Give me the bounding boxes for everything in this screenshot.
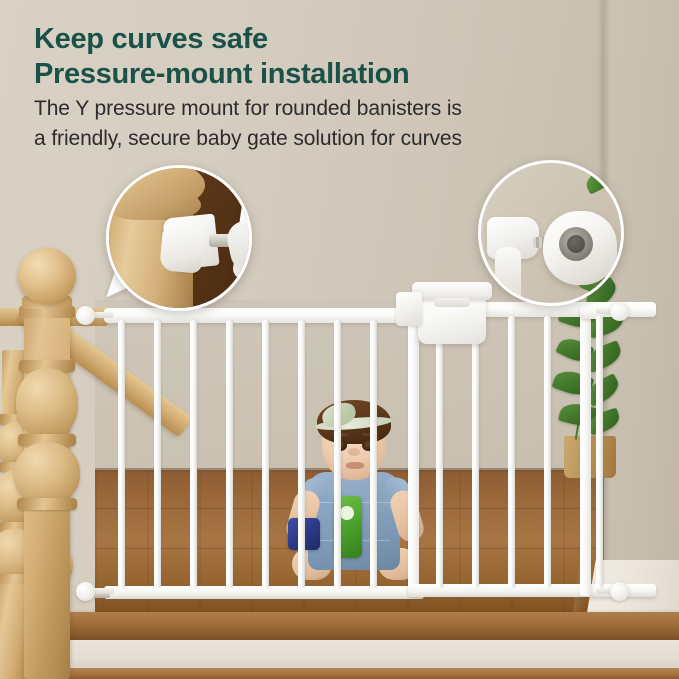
gate-door-latch-post[interactable] [580, 310, 591, 596]
newel-bulb [14, 442, 80, 504]
newel-bulb [16, 368, 78, 438]
gate-bar [298, 320, 305, 588]
gate-bar [596, 316, 603, 588]
gate-bar [226, 320, 233, 588]
gate-bar [334, 320, 341, 588]
subheadline: The Y pressure mount for rounded baniste… [34, 94, 634, 154]
gate-bar [190, 320, 197, 588]
baby-gate[interactable] [96, 296, 608, 618]
headline-line-1: Keep curves safe [34, 22, 634, 57]
gate-hinge-block [396, 292, 422, 326]
gate-bar [118, 320, 125, 588]
y-pressure-mount-arm [159, 228, 205, 274]
mount-knob-top-right[interactable] [610, 302, 629, 321]
subheadline-line-1: The Y pressure mount for rounded baniste… [34, 94, 634, 124]
product-marketing-image: Keep curves safe Pressure-mount installa… [0, 0, 679, 679]
pressure-pad-socket-inner [567, 235, 585, 253]
headline-line-2: Pressure-mount installation [34, 57, 634, 92]
newel-ring [17, 498, 77, 510]
gate-bar [436, 316, 443, 588]
gate-frame-post-macro [495, 247, 521, 305]
mount-knob-bottom-right[interactable] [610, 582, 629, 601]
wall-pressure-pad-closeup [478, 160, 624, 306]
mount-stem-top-left [92, 312, 114, 318]
gate-bar [508, 316, 515, 588]
gate-bar [370, 320, 377, 588]
gate-bar [544, 316, 551, 588]
headline: Keep curves safe Pressure-mount installa… [34, 22, 634, 93]
gate-bar [154, 320, 161, 588]
banister-y-mount-closeup [106, 165, 252, 311]
mount-knob-bottom-left[interactable] [76, 582, 95, 601]
subheadline-line-2: a friendly, secure baby gate solution fo… [34, 124, 634, 154]
gate-bar [262, 320, 269, 588]
newel-ball-finial [18, 248, 76, 304]
gate-door-hinge-post[interactable] [408, 310, 419, 596]
gate-bar [472, 316, 479, 588]
gate-latch-release-button[interactable] [434, 298, 470, 307]
mount-knob-top-left[interactable] [76, 306, 95, 325]
mount-screw-bottom-left [94, 594, 110, 598]
